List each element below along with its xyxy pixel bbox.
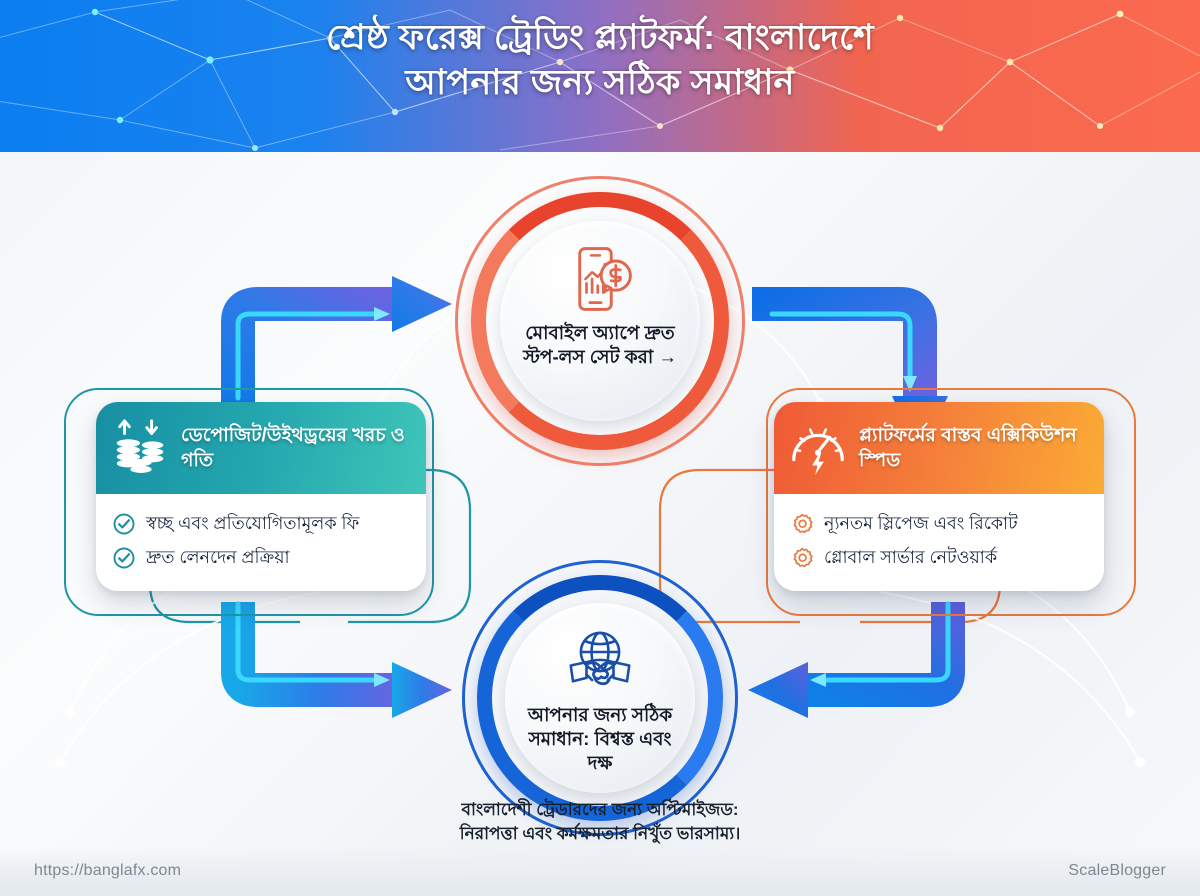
arrow-left-to-bottom — [238, 602, 452, 718]
list-item: গ্লোবাল সার্ভার নেটওয়ার্ক — [790, 541, 1090, 575]
footer-bar: https://banglafx.com ScaleBlogger — [0, 846, 1200, 896]
infographic-page: শ্রেষ্ঠ ফরেক্স ট্রেডিং প্ল্যাটফর্ম: বাংল… — [0, 0, 1200, 896]
card-bullets-right: ন্যূনতম স্লিপেজ এবং রিকোট গ্লোবাল সার্ভা… — [774, 494, 1104, 591]
bullet-text: গ্লোবাল সার্ভার নেটওয়ার্ক — [824, 547, 997, 569]
speedometer-bolt-icon — [787, 417, 849, 479]
card-header-left: ডেপোজিট/উইথড্রয়ের খরচ ও গতি — [96, 402, 426, 494]
check-circle-icon — [112, 512, 136, 536]
footer-url[interactable]: https://banglafx.com — [34, 862, 181, 880]
bullet-text: দ্রুত লেনদেন প্রক্রিয়া — [146, 547, 290, 569]
node-right-solution[interactable]: আপনার জন্য সঠিক সমাধান: বিশ্বস্ত এবং দক্… — [462, 560, 738, 836]
list-item: স্বচ্ছ এবং প্রতিযোগিতামূলক ফি — [112, 507, 412, 541]
caption-line-2: নিরাপত্তা এবং কর্মক্ষমতার নিখুঁত ভারসাম্… — [0, 822, 1200, 846]
title-line-2: আপনার জন্য সঠিক সমাধান — [0, 61, 1200, 106]
header-banner: শ্রেষ্ঠ ফরেক্স ট্রেডিং প্ল্যাটফর্ম: বাংল… — [0, 0, 1200, 152]
bullet-text: ন্যূনতম স্লিপেজ এবং রিকোট — [824, 513, 1018, 535]
card-bullets-left: স্বচ্ছ এবং প্রতিযোগিতামূলক ফি দ্রুত লেনদ… — [96, 494, 426, 591]
arrow-left-to-top — [238, 276, 452, 402]
title-line-1: শ্রেষ্ঠ ফরেক্স ট্রেডিং প্ল্যাটফর্ম: বাংল… — [0, 16, 1200, 61]
footer-brand: ScaleBlogger — [1068, 862, 1166, 880]
page-title: শ্রেষ্ঠ ফরেক্স ট্রেডিং প্ল্যাটফর্ম: বাংল… — [0, 0, 1200, 106]
card-body-left[interactable]: ডেপোজিট/উইথড্রয়ের খরচ ও গতি স্বচ্ছ এবং … — [96, 402, 426, 591]
node-label-top: মোবাইল অ্যাপে দ্রুত স্টপ-লস সেট করা → — [500, 321, 700, 369]
gear-icon — [790, 546, 814, 570]
arrow-right-to-bottom — [748, 602, 948, 718]
coin-stack-transfer-icon — [109, 417, 171, 479]
node-mobile-stop-loss[interactable]: মোবাইল অ্যাপে দ্রুত স্টপ-লস সেট করা → — [455, 176, 745, 466]
globe-handshake-icon — [564, 625, 636, 697]
footer-caption: বাংলাদেশী ট্রেডারদের জন্য অপ্টিমাইজড: নি… — [0, 798, 1200, 846]
card-header-right: প্ল্যাটফর্মের বাস্তব এক্সিকিউশন স্পিড — [774, 402, 1104, 494]
node-label-bottom: আপনার জন্য সঠিক সমাধান: বিশ্বস্ত এবং দক্… — [505, 703, 695, 775]
circle-content-top[interactable]: মোবাইল অ্যাপে দ্রুত স্টপ-লস সেট করা → — [500, 221, 700, 421]
list-item: ন্যূনতম স্লিপেজ এবং রিকোট — [790, 507, 1090, 541]
mobile-chart-dollar-icon — [564, 243, 636, 315]
circle-content-bottom[interactable]: আপনার জন্য সঠিক সমাধান: বিশ্বস্ত এবং দক্… — [505, 603, 695, 793]
check-circle-icon — [112, 546, 136, 570]
card-title-left: ডেপোজিট/উইথড্রয়ের খরচ ও গতি — [181, 423, 412, 473]
card-body-right[interactable]: প্ল্যাটফর্মের বাস্তব এক্সিকিউশন স্পিড ন্… — [774, 402, 1104, 591]
gear-icon — [790, 512, 814, 536]
list-item: দ্রুত লেনদেন প্রক্রিয়া — [112, 541, 412, 575]
caption-line-1: বাংলাদেশী ট্রেডারদের জন্য অপ্টিমাইজড: — [0, 798, 1200, 822]
card-title-right: প্ল্যাটফর্মের বাস্তব এক্সিকিউশন স্পিড — [859, 423, 1090, 473]
bullet-text: স্বচ্ছ এবং প্রতিযোগিতামূলক ফি — [146, 513, 359, 535]
